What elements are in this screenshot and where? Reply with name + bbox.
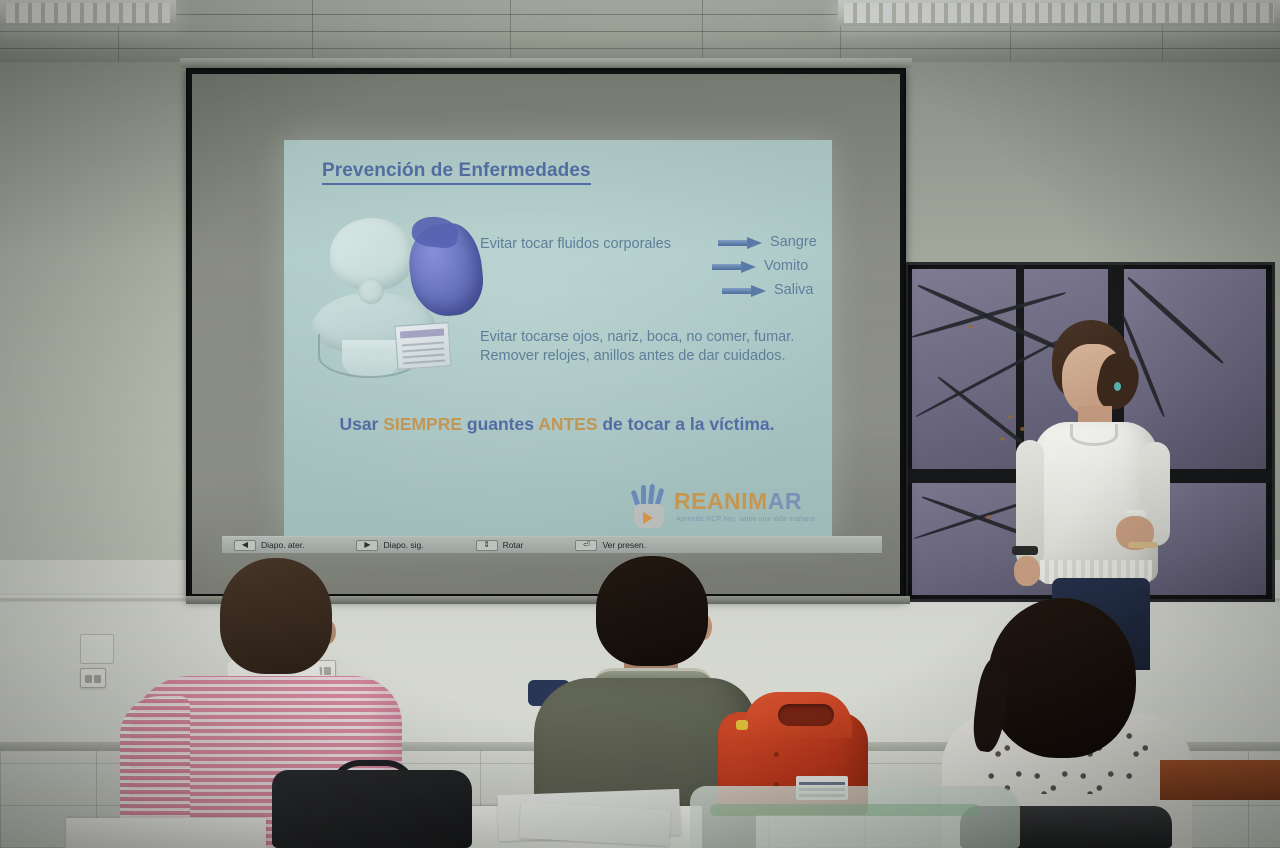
arrow-label: Saliva [774, 282, 814, 298]
wall-left-panel [0, 62, 190, 622]
black-shoulder-bag[interactable] [272, 760, 472, 848]
alcohol-wipe-icon [395, 322, 452, 370]
emphasis-part1: Usar [339, 414, 383, 434]
fluorescent-fixture-right [838, 0, 1280, 26]
slide-illustrations [304, 212, 464, 397]
slide-emphasis: Usar SIEMPRE guantes ANTES de tocar a la… [322, 412, 792, 437]
presenter-collar [1070, 424, 1118, 446]
head [220, 558, 332, 674]
hand-logo-icon [630, 484, 670, 528]
outlet-plate [80, 634, 114, 664]
emphasis-part2: guantes [462, 414, 538, 434]
green-strip [710, 804, 980, 816]
block-arrow-icon [722, 286, 766, 295]
previous-slide-icon[interactable]: ◀ [234, 540, 256, 551]
control-label: Ver presen. [602, 540, 645, 550]
arrow-label: Vomito [764, 258, 808, 274]
control-label: Diapo. sig. [383, 540, 423, 550]
control-view-presentation[interactable]: ⏎ Ver presen. [575, 540, 645, 551]
desk-left [66, 818, 266, 848]
slide-title: Prevención de Enfermedades [322, 160, 591, 185]
logo-tagline: Aprendé RCP hoy, salva una vida mañana [676, 516, 815, 523]
wood-furniture-edge [1160, 760, 1280, 800]
emphasis-highlight-antes: ANTES [538, 414, 597, 434]
control-label: Rotar [503, 540, 524, 550]
play-triangle-icon [643, 512, 653, 524]
slide-arrow-list: Sangre Vomito Saliva [718, 231, 817, 303]
reanimar-logo: REANIMAR Aprendé RCP hoy, salva una vida… [630, 476, 822, 532]
presentation-control-bar[interactable]: ◀ Diapo. ater. ▶ Diapo. sig. ⇕ Rotar ⏎ V… [222, 536, 882, 553]
projected-slide: Prevención de Enfermedades [284, 140, 832, 540]
logo-text-secondary: AR [768, 488, 802, 514]
wrapped-training-equipment[interactable] [690, 786, 1020, 848]
slide-bullet-hygiene: Evitar tocarse ojos, nariz, boca, no com… [480, 328, 800, 366]
aed-handle[interactable] [778, 704, 834, 726]
projection-screen: Prevención de Enfermedades [186, 68, 906, 600]
block-arrow-icon [712, 262, 756, 271]
mask-valve [358, 278, 384, 304]
logo-text-primary: REANIM [674, 488, 768, 514]
head [596, 556, 708, 666]
bag-body [272, 770, 472, 848]
earring [1114, 382, 1121, 391]
logo-wordmark: REANIMAR [674, 488, 802, 515]
list-item: Sangre [718, 231, 817, 253]
control-label: Diapo. ater. [261, 540, 304, 550]
bracelet [1128, 542, 1158, 548]
hair [988, 598, 1136, 758]
screen-roller [180, 58, 912, 68]
wristwatch [1012, 546, 1038, 555]
emphasis-highlight-siempre: SIEMPRE [383, 414, 462, 434]
slide-bullet-fluids: Evitar tocar fluidos corporales [480, 236, 671, 252]
control-next-slide[interactable]: ▶ Diapo. sig. [356, 540, 423, 551]
enter-key-icon[interactable]: ⏎ [575, 540, 597, 551]
control-rotate[interactable]: ⇕ Rotar [476, 540, 524, 551]
presenter-hand-left [1014, 556, 1040, 586]
block-arrow-icon [718, 238, 762, 247]
ceiling [0, 0, 1280, 62]
aed-latch[interactable] [736, 720, 748, 730]
emphasis-part3: de tocar a la víctima. [598, 414, 775, 434]
rotate-icon[interactable]: ⇕ [476, 540, 498, 551]
next-slide-icon[interactable]: ▶ [356, 540, 378, 551]
classroom-scene: Prevención de Enfermedades [0, 0, 1280, 848]
arrow-label: Sangre [770, 234, 817, 250]
screen-surface: Prevención de Enfermedades [192, 74, 900, 594]
control-previous-slide[interactable]: ◀ Diapo. ater. [234, 540, 304, 551]
list-item: Saliva [722, 279, 817, 301]
fluorescent-fixture-left [0, 0, 176, 26]
list-item: Vomito [712, 255, 817, 277]
wall-outlet-left[interactable] [80, 668, 106, 688]
